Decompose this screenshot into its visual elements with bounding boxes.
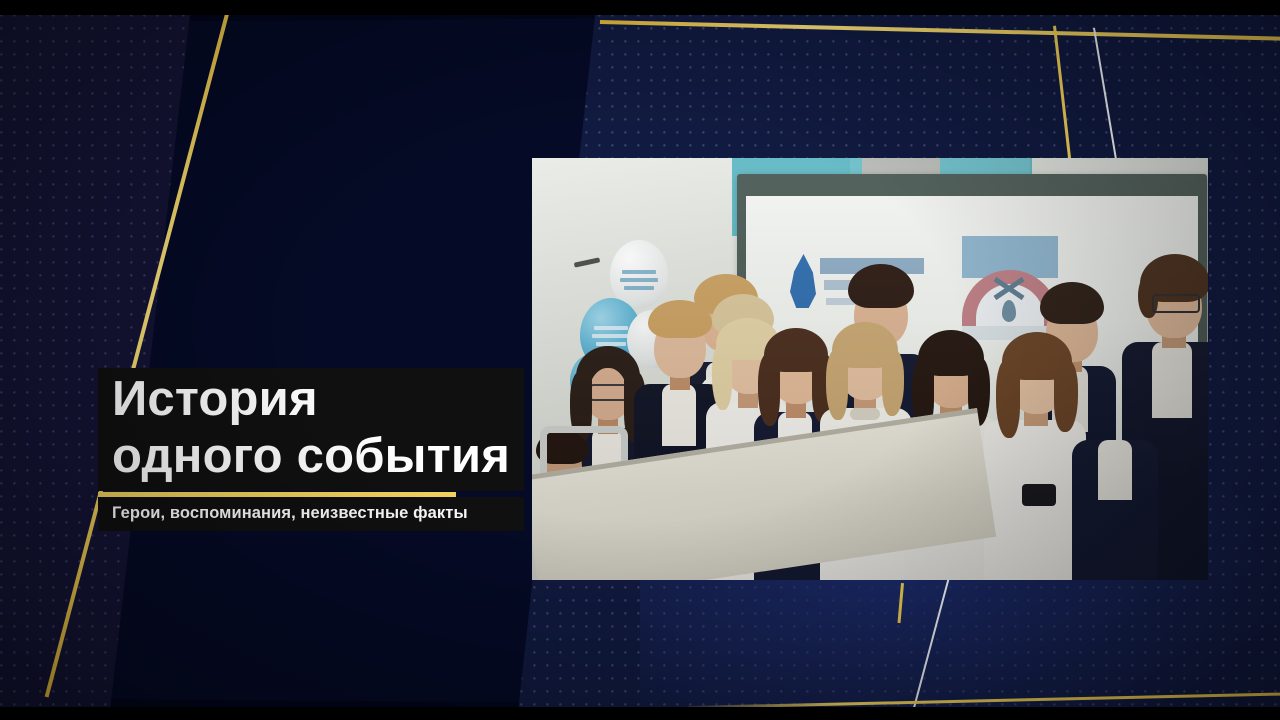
person-12 (1072, 400, 1158, 580)
page-title-line-2: одного события (98, 430, 524, 491)
letterbox-bottom-bar (0, 707, 1280, 720)
title-card: История одного события Герои, воспоминан… (98, 368, 524, 531)
page-subtitle: Герои, воспоминания, неизвестные факты (98, 497, 524, 531)
event-photo (532, 158, 1208, 580)
page-title-line-1: История (98, 368, 524, 430)
letterbox-top-bar (0, 0, 1280, 15)
broadcast-lower-third-frame: История одного события Герои, воспоминан… (0, 0, 1280, 720)
school-emblem-drop-icon (1002, 300, 1016, 322)
person-11 (984, 328, 1086, 580)
